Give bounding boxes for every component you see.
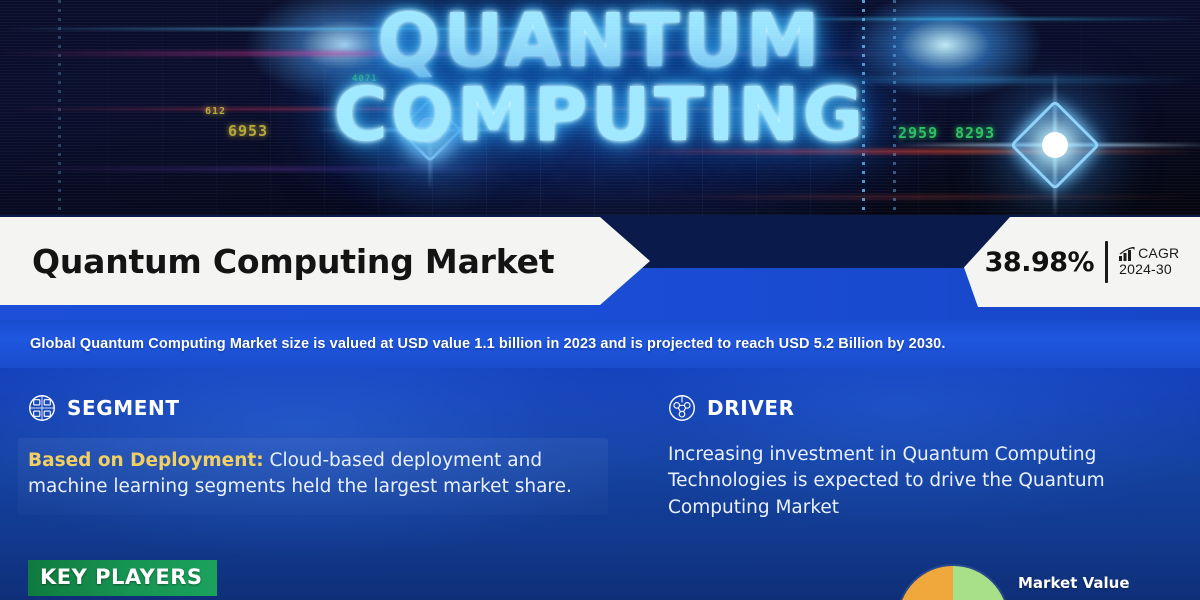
cagr-years: 2024-30 [1119, 262, 1179, 278]
market-value-label: Market Value [1018, 574, 1130, 592]
badge-divider [1105, 241, 1108, 283]
segment-panel: Based on Deployment: Cloud-based deploym… [18, 438, 608, 515]
key-players-label: KEY PLAYERS [40, 565, 203, 589]
dotted-column-decoration [893, 0, 896, 215]
digital-readout: 4071 [352, 74, 378, 84]
driver-heading: DRIVER [668, 394, 1200, 422]
page-title: Quantum Computing Market [32, 242, 554, 281]
driver-panel: Increasing investment in Quantum Computi… [668, 438, 1198, 521]
digital-readout: 8293 [955, 124, 995, 142]
cagr-label: CAGR [1138, 246, 1179, 262]
title-bar: Quantum Computing Market 38.98% CAGR 202… [0, 215, 1200, 320]
hero-banner: 69532959829391264071612 QUANTUM COMPUTIN… [0, 0, 1200, 215]
driver-body: Increasing investment in Quantum Computi… [668, 442, 1198, 521]
light-streak [0, 28, 780, 30]
segment-globe-icon [28, 394, 56, 422]
market-summary-text: Global Quantum Computing Market size is … [30, 336, 945, 352]
light-streak [700, 18, 1200, 20]
subtitle-bar: Global Quantum Computing Market size is … [0, 320, 1200, 368]
lens-flare-icon [345, 45, 515, 215]
digital-readout: 6953 [228, 122, 268, 140]
driver-network-icon [668, 394, 696, 422]
dotted-column-decoration [862, 0, 865, 215]
key-players-badge: KEY PLAYERS [28, 560, 217, 596]
driver-column: DRIVER Increasing investment in Quantum … [640, 368, 1200, 521]
market-value-pie-chart [898, 566, 1008, 600]
title-bar-white-chevron: Quantum Computing Market [0, 217, 650, 305]
infographic-page: 69532959829391264071612 QUANTUM COMPUTIN… [0, 0, 1200, 600]
pie-slices [898, 566, 1008, 600]
cagr-badge: 38.98% CAGR 2024-30 [964, 217, 1200, 307]
digital-readout: 2959 [898, 124, 938, 142]
segment-heading: SEGMENT [28, 394, 640, 422]
segment-title: SEGMENT [67, 396, 180, 420]
driver-title: DRIVER [707, 396, 795, 420]
digital-readout: 612 [205, 106, 226, 117]
segment-highlight: Based on Deployment: [28, 450, 264, 471]
segment-column: SEGMENT Based on Deployment: Cloud-based… [0, 368, 640, 515]
cagr-percentage: 38.98% [985, 247, 1094, 278]
segment-body: Based on Deployment: Cloud-based deploym… [28, 448, 594, 501]
bar-chart-growth-icon [1119, 247, 1135, 261]
